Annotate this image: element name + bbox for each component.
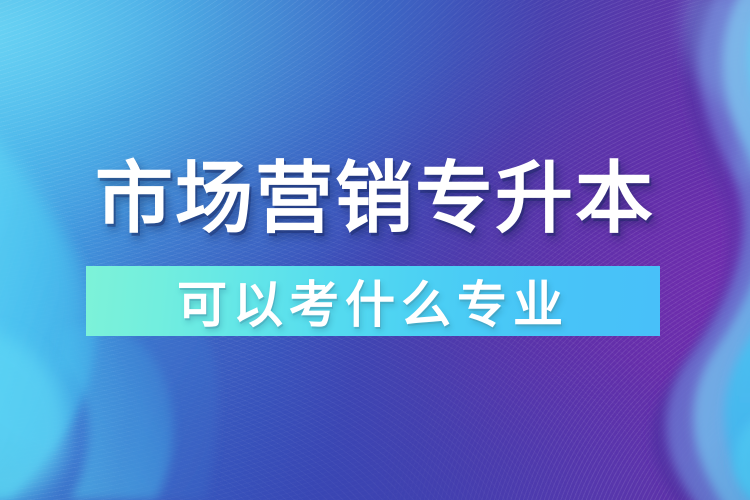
promo-banner: 市场营销专升本 可以考什么专业	[0, 0, 750, 500]
banner-subheadline: 可以考什么专业	[86, 266, 660, 336]
banner-content: 市场营销专升本 可以考什么专业	[0, 0, 750, 500]
banner-headline: 市场营销专升本	[0, 150, 750, 246]
